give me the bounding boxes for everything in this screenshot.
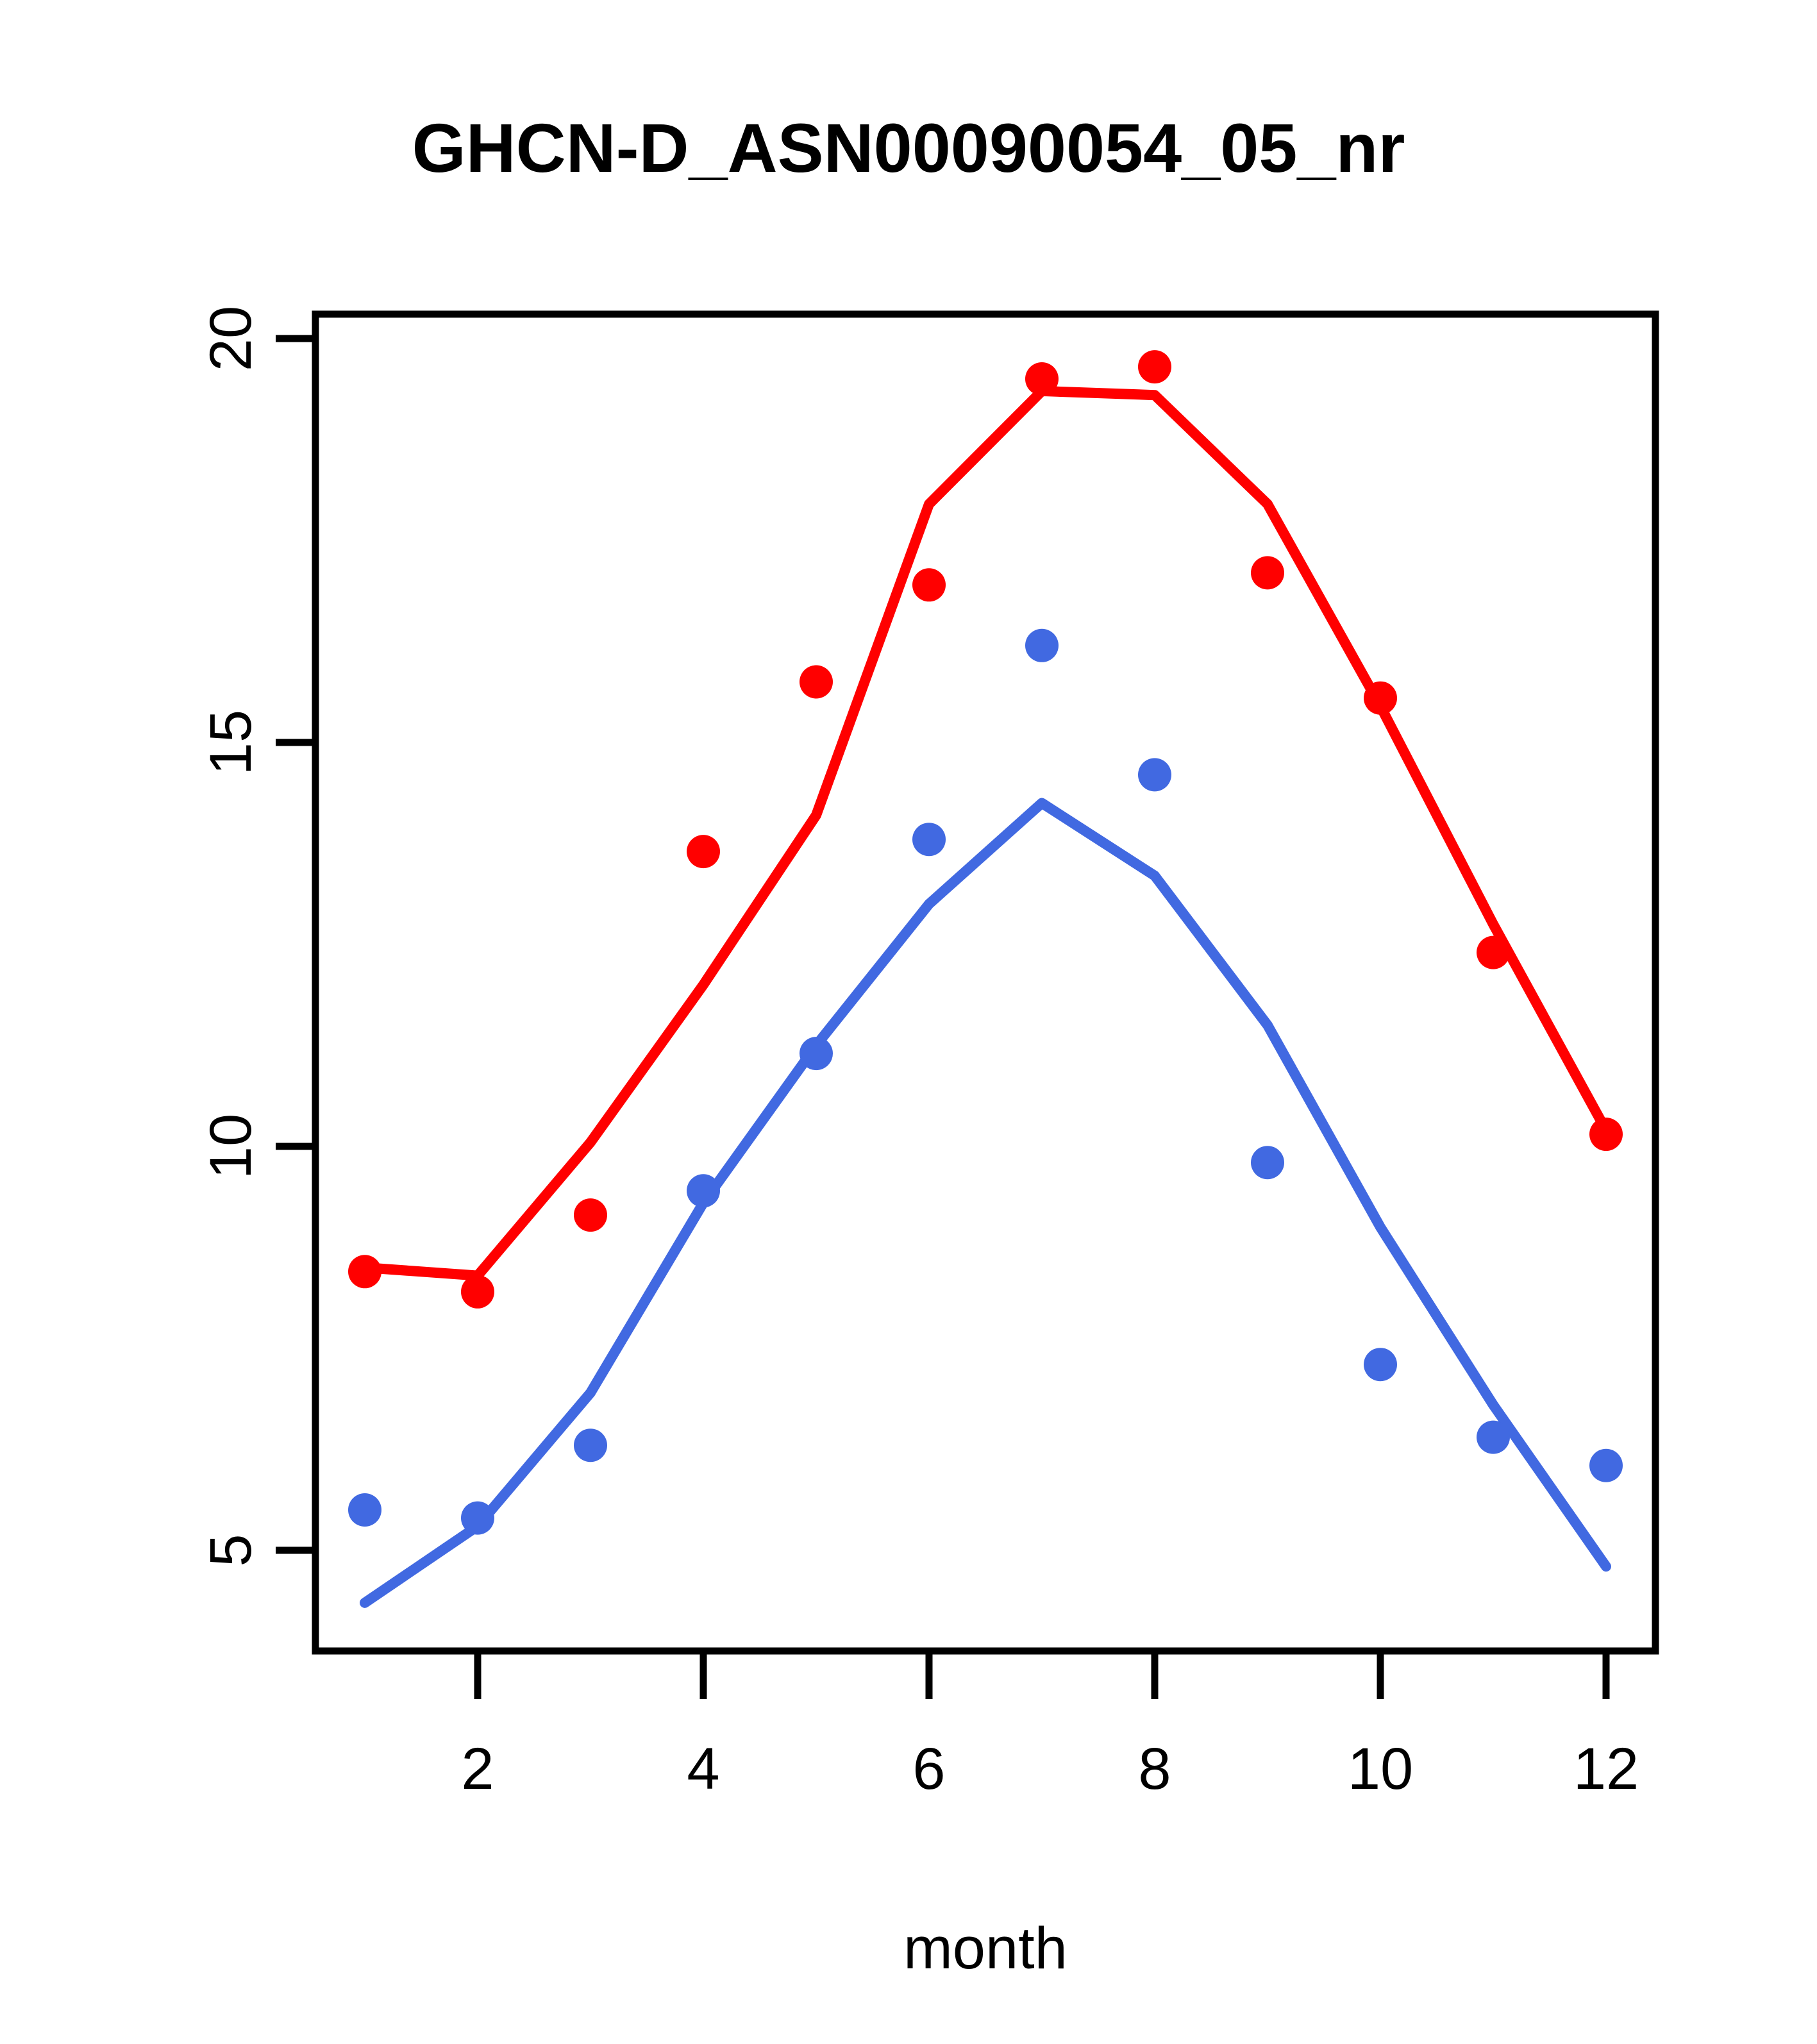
data-point [1477,936,1510,969]
data-point [1589,1449,1623,1482]
data-point [461,1275,494,1309]
x-axis-ticks [478,1651,1606,1699]
data-point [1251,556,1284,589]
data-point [1025,629,1059,662]
data-point [348,1493,381,1527]
chart-figure: GHCN-D_ASN00090054_05_nr 5 10 15 20 [0,0,1817,2044]
y-tick-label-15: 15 [198,710,264,775]
data-point [687,1174,720,1207]
data-point [1477,1421,1510,1454]
data-point [1364,1348,1397,1381]
x-axis-title: month [903,1916,1068,1981]
data-point [1589,1118,1623,1151]
series-points-tmax-points [348,350,1623,1309]
series-line-tmax-fit [365,391,1606,1276]
data-point [348,1255,381,1288]
data-point [1251,1146,1284,1179]
y-tick-label-10: 10 [198,1114,264,1179]
x-axis-tick-labels: 2 4 6 8 10 12 [461,1736,1639,1802]
x-tick-label-8: 8 [1138,1736,1171,1802]
series-points-layer [348,350,1623,1535]
data-point [912,823,946,856]
x-tick-label-2: 2 [461,1736,494,1802]
data-point [574,1198,607,1232]
data-point [1138,350,1171,383]
data-point [687,835,720,868]
series-line-tmin-fit [365,803,1606,1603]
x-tick-label-10: 10 [1348,1736,1413,1802]
data-point [574,1428,607,1462]
plot-frame [315,314,1655,1651]
y-tick-label-20: 20 [198,306,264,371]
y-tick-label-5: 5 [198,1534,264,1566]
x-tick-label-12: 12 [1573,1736,1639,1802]
x-tick-label-6: 6 [912,1736,945,1802]
series-points-tmin-points [348,629,1623,1535]
series-lines-layer [365,391,1606,1603]
y-axis-tick-labels: 5 10 15 20 [198,306,264,1567]
x-tick-label-4: 4 [687,1736,719,1802]
y-axis-ticks [276,339,315,1550]
data-point [912,568,946,601]
data-point [461,1502,494,1535]
data-point [1138,758,1171,791]
data-point [800,1037,833,1070]
data-point [1025,362,1059,396]
plot-area: 5 10 15 20 2 4 6 8 10 12 month [0,0,1817,2044]
data-point [1364,682,1397,715]
data-point [800,666,833,699]
